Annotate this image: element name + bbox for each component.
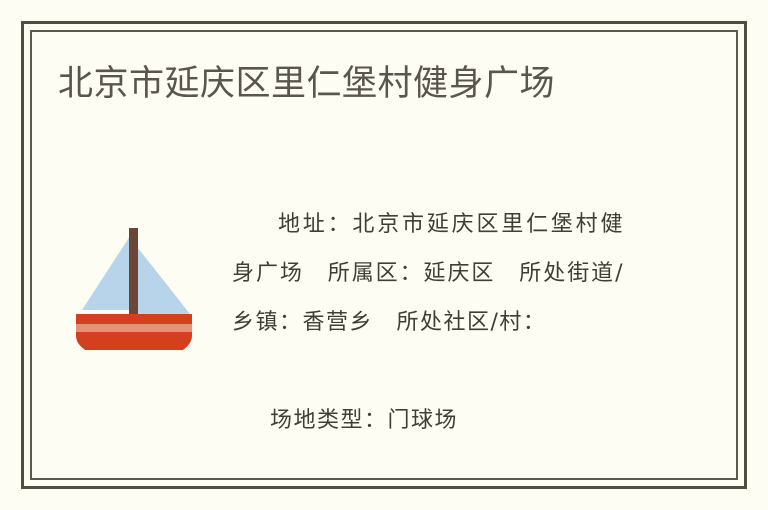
sailboat-icon — [72, 214, 196, 350]
venue-details-text: 地址：北京市延庆区里仁堡村健身广场 所属区：延庆区 所处街道/乡镇：香营乡 所处… — [232, 200, 624, 347]
card-content: 北京市延庆区里仁堡村健身广场 — [30, 30, 738, 480]
venue-info-card: 北京市延庆区里仁堡村健身广场 — [0, 0, 768, 510]
details-flow-line: 地址：北京市延庆区里仁堡村健身广场 所属区：延庆区 所处街道/乡镇：香营乡 所处… — [232, 212, 624, 335]
venue-details-last-line: 场地类型：门球场 — [232, 396, 624, 445]
page-title: 北京市延庆区里仁堡村健身广场 — [58, 60, 698, 108]
details-facility-type: 场地类型：门球场 — [270, 408, 458, 433]
card-body: 地址：北京市延庆区里仁堡村健身广场 所属区：延庆区 所处街道/乡镇：香营乡 所处… — [30, 200, 738, 450]
